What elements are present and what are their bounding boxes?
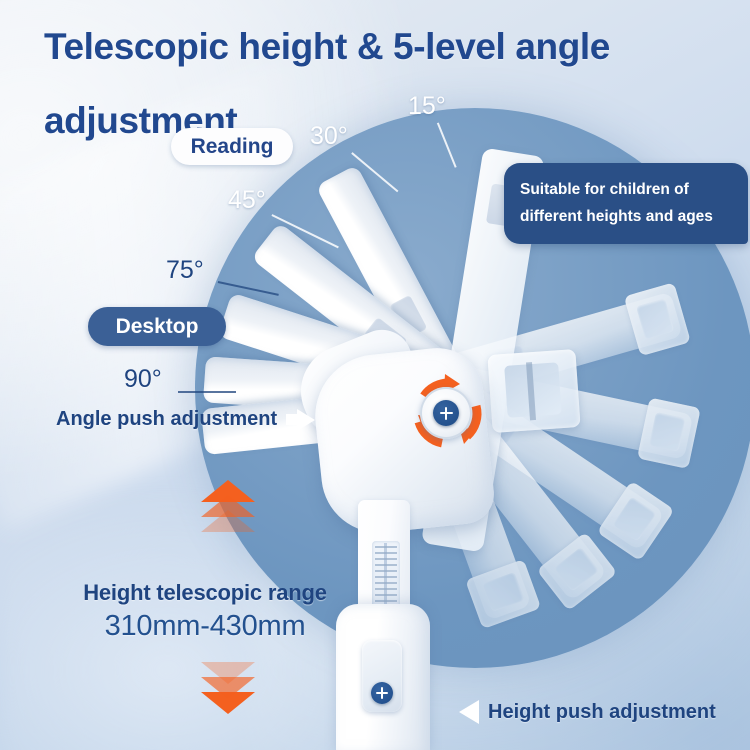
ratchet-rung: [375, 570, 397, 572]
ratchet-rung: [375, 594, 397, 596]
angle-push-annotation: Angle push adjustment: [56, 408, 315, 431]
callout-box: Suitable for children of different heigh…: [504, 163, 748, 244]
telescopic-range-block: Height telescopic range 310mm-430mm: [60, 580, 350, 643]
angle-label-45: 45°: [228, 186, 266, 215]
chevron-down-stack-icon: [196, 662, 260, 707]
arrow-right-head: [297, 409, 315, 431]
rotation-knob[interactable]: [420, 387, 472, 439]
ratchet-rung: [375, 582, 397, 584]
height-push-annotation: Height push adjustment: [459, 700, 716, 724]
ratchet-rung: [375, 600, 397, 602]
angle-label-75: 75°: [166, 256, 204, 285]
ratchet-rung: [375, 588, 397, 590]
angle-push-label: Angle push adjustment: [56, 408, 277, 431]
height-push-button[interactable]: [362, 640, 402, 712]
leader-line-90deg: [178, 391, 236, 393]
range-value: 310mm-430mm: [60, 610, 350, 643]
arrow-right-icon: [286, 409, 315, 431]
chevron-up-stack-icon: [196, 480, 260, 525]
page-title-line-1: Telescopic height & 5-level angle: [44, 10, 734, 84]
ratchet-rung: [375, 576, 397, 578]
arm-clip-head: [637, 398, 701, 469]
arm-clip-head: [537, 532, 618, 611]
hinge-mechanism: [487, 349, 580, 433]
angle-label-30: 30°: [310, 122, 348, 151]
chevron-up: [201, 510, 255, 532]
badge-reading: Reading: [171, 128, 293, 165]
arrow-left-icon: [459, 700, 479, 724]
page-title: Telescopic height & 5-level angle adjust…: [44, 10, 734, 158]
ratchet-rung: [375, 546, 397, 548]
product-infographic: Telescopic height & 5-level angle adjust…: [0, 0, 750, 750]
angle-label-90: 90°: [124, 365, 162, 394]
plus-knob-icon: [433, 400, 459, 426]
arm-clip-head: [465, 559, 541, 629]
ratchet-rung: [375, 564, 397, 566]
badge-desktop: Desktop: [88, 307, 226, 346]
height-push-label: Height push adjustment: [488, 701, 716, 724]
angle-label-15: 15°: [408, 92, 446, 121]
callout-line-1: Suitable for children of: [520, 176, 742, 203]
arm-clip-head: [624, 282, 691, 356]
arrow-right-tail: [286, 414, 297, 425]
range-title: Height telescopic range: [60, 580, 350, 606]
chevron-down: [201, 677, 255, 699]
arm-clip-head: [597, 481, 675, 561]
ratchet-rung: [375, 558, 397, 560]
page-title-line-2: adjustment: [44, 84, 734, 158]
plus-button-icon: [371, 682, 393, 704]
callout-line-2: different heights and ages: [520, 203, 742, 230]
ratchet-rung: [375, 552, 397, 554]
